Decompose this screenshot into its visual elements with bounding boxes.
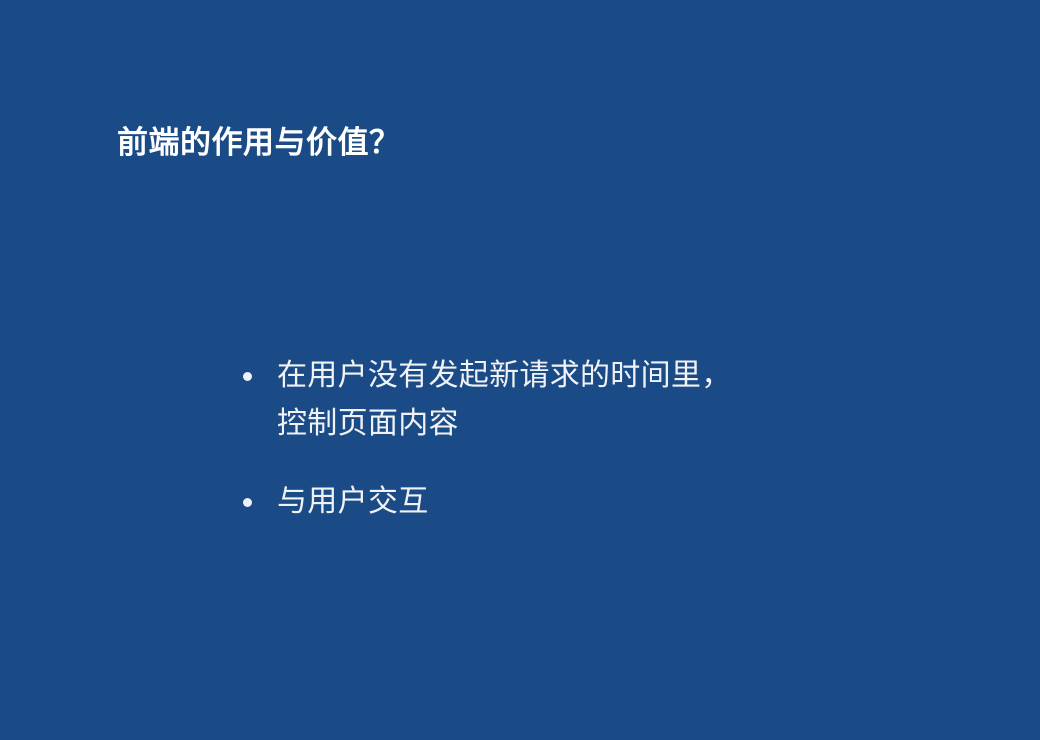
slide-title: 前端的作用与价值？ [117,124,401,163]
list-item: 与用户交互 [243,478,883,526]
list-item-text: 在用户没有发起新请求的时间里， 控制页面内容 [277,352,883,448]
presentation-slide: 前端的作用与价值？ 在用户没有发起新请求的时间里， 控制页面内容 与用户交互 [0,0,1040,740]
bullet-dot-icon [243,372,252,381]
list-item: 在用户没有发起新请求的时间里， 控制页面内容 [243,352,883,448]
list-item-text: 与用户交互 [277,478,883,526]
bullet-list: 在用户没有发起新请求的时间里， 控制页面内容 与用户交互 [243,352,883,526]
bullet-dot-icon [243,498,252,507]
